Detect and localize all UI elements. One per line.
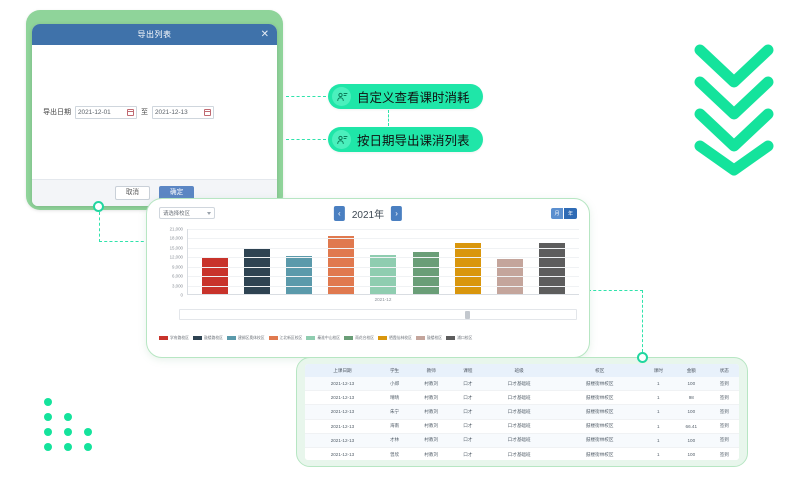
legend-item[interactable]: 雨花台校区 [344,336,374,341]
chart-toolbar: 请选择校区 ‹ 2021年 › 月 年 [159,207,577,223]
table-cell: 1 [644,447,673,460]
table-cell: 鼓楼街林校区 [556,391,644,405]
date-from-input[interactable]: 2021-12-01 [75,106,137,119]
table-cell: 朱宁 [380,405,409,419]
table-cell: 1 [644,391,673,405]
table-cell: 口才基础班 [483,419,556,433]
legend-swatch [378,336,387,340]
legend-label: 建邺区奥体校区 [238,336,265,341]
callout-connector-line [286,139,326,140]
table-column-header[interactable]: 状态 [710,364,739,377]
legend-swatch [159,336,168,340]
table-cell: 签到 [710,377,739,391]
campus-select[interactable]: 请选择校区 [159,207,215,219]
calendar-icon [127,109,134,116]
table-cell: 签到 [710,391,739,405]
legend-item[interactable]: 鼓楼路校区 [193,336,223,341]
chart-table-connector [588,290,643,291]
table-cell: 100 [673,447,710,460]
table-cell: 口才基础班 [483,405,556,419]
legend-swatch [306,336,315,340]
y-axis-tick: 18,000 [170,236,183,241]
table-column-header[interactable]: 课时 [644,364,673,377]
cancel-button[interactable]: 取消 [115,186,150,201]
legend-label: 鼓楼路校区 [204,336,223,341]
table-cell: 晴晴 [380,391,409,405]
dialog-titlebar: 导出列表 ✕ [32,24,277,45]
user-settings-icon [332,130,351,149]
records-table-card: 上课日期学生教师课程班级校区课时金额状态 2021-12-13小郑村教刘口才口才… [296,357,748,467]
table-cell: 口才基础班 [483,391,556,405]
table-cell: 2021-12-13 [305,405,380,419]
y-axis-tick: 6,000 [172,274,183,279]
gridline [188,257,579,258]
gridline [188,248,579,249]
legend-item[interactable]: 浦口校区 [446,336,472,341]
table-cell: 口才 [453,433,482,447]
legend-item[interactable]: 江北新区校区 [269,336,303,341]
y-axis-tick: 12,000 [170,255,183,260]
legend-label: 秦淮中山校区 [317,336,340,341]
y-axis-tick: 0 [181,293,183,298]
bar[interactable] [370,255,396,294]
bar[interactable] [244,249,270,294]
table-cell: 鼓楼街林校区 [556,447,644,460]
legend-item[interactable]: 鼓楼校区 [416,336,442,341]
legend-swatch [269,336,278,340]
table-cell: 2021-12-13 [305,433,380,447]
chevron-down-icon-group [686,42,782,178]
table-cell: 2021-12-13 [305,391,380,405]
table-column-header[interactable]: 金额 [673,364,710,377]
table-cell: 口才基础班 [483,433,556,447]
y-axis-tick: 3,000 [172,283,183,288]
dialog-title: 导出列表 [138,29,172,40]
table-cell: 村教刘 [409,391,453,405]
table-cell: 村教刘 [409,433,453,447]
table-column-header[interactable]: 课程 [453,364,482,377]
table-cell: 鼓楼街林校区 [556,377,644,391]
table-cell: 小郑 [380,377,409,391]
table-cell: 鼓楼街林校区 [556,419,644,433]
callout-custom-view: 自定义查看课时消耗 [328,84,483,109]
table-row[interactable]: 2021-12-13曾欣村教刘口才口才基础班鼓楼街林校区1100签到 [305,447,739,460]
connector-dot [93,201,104,212]
callout-vertical-connector [388,110,389,126]
table-row[interactable]: 2021-12-13才林村教刘口才口才基础班鼓楼街林校区1100签到 [305,433,739,447]
table-cell: 村教刘 [409,419,453,433]
legend-label: 浦口校区 [457,336,472,341]
toggle-year-button[interactable]: 年 [564,208,577,219]
chart-card: 请选择校区 ‹ 2021年 › 月 年 21,00018,00015,00012… [146,198,590,358]
legend-swatch [344,336,353,340]
chart-scrollbar-handle[interactable] [465,311,470,319]
y-axis-tick: 15,000 [170,245,183,250]
date-range-separator: 至 [141,107,148,117]
table-cell: 签到 [710,405,739,419]
table-cell: 66.41 [673,419,710,433]
legend-label: 学府路校区 [170,336,189,341]
calendar-icon [204,109,211,116]
chart-scrollbar[interactable] [179,309,577,320]
table-cell: 签到 [710,433,739,447]
legend-swatch [193,336,202,340]
legend-item[interactable]: 学府路校区 [159,336,189,341]
table-cell: 1 [644,377,673,391]
next-year-button[interactable]: › [391,206,402,221]
plot-area [187,229,579,295]
date-to-value: 2021-12-13 [155,109,204,116]
legend-item[interactable]: 秦淮中山校区 [306,336,340,341]
view-toggle-group: 月 年 [551,208,577,219]
callout-export-by-date: 按日期导出课消列表 [328,127,483,152]
table-body: 2021-12-13小郑村教刘口才口才基础班鼓楼街林校区1100签到2021-1… [305,377,739,460]
export-dialog-frame: 导出列表 ✕ 导出日期 2021-12-01 至 2021-12-13 取消 确… [26,10,283,210]
chart-legend: 学府路校区鼓楼路校区建邺区奥体校区江北新区校区秦淮中山校区雨花台校区栖霞仙林校区… [159,333,581,343]
table-cell: 100 [673,433,710,447]
table-cell: 口才 [453,391,482,405]
table-cell: 1 [644,419,673,433]
callout-label: 按日期导出课消列表 [357,130,470,149]
table-column-header[interactable]: 学生 [380,364,409,377]
table-column-header[interactable]: 班级 [483,364,556,377]
table-cell: 2021-12-13 [305,377,380,391]
table-row[interactable]: 2021-12-13海南村教刘口才口才基础班鼓楼街林校区166.41签到 [305,419,739,433]
prev-year-button[interactable]: ‹ [334,206,345,221]
legend-item[interactable]: 建邺区奥体校区 [227,336,265,341]
legend-swatch [416,336,425,340]
gridline [188,229,579,230]
legend-label: 栖霞仙林校区 [389,336,412,341]
table-cell: 口才 [453,405,482,419]
close-icon[interactable]: ✕ [261,30,269,40]
date-from-value: 2021-12-01 [78,109,127,116]
table-column-header[interactable]: 校区 [556,364,644,377]
table-cell: 1 [644,405,673,419]
table-row[interactable]: 2021-12-13朱宁村教刘口才口才基础班鼓楼街林校区1100签到 [305,405,739,419]
gridline [188,276,579,277]
chart-table-connector [642,290,643,352]
table-cell: 2021-12-13 [305,419,380,433]
table-cell: 鼓楼街林校区 [556,405,644,419]
gridline [188,267,579,268]
connector-dot [637,352,648,363]
legend-label: 雨花台校区 [355,336,374,341]
callout-label: 自定义查看课时消耗 [357,87,470,106]
date-to-input[interactable]: 2021-12-13 [152,106,214,119]
table-cell: 口才基础班 [483,447,556,460]
table-cell: 口才基础班 [483,377,556,391]
chevron-down-icon [207,212,211,215]
legend-label: 江北新区校区 [280,336,303,341]
year-navigator: ‹ 2021年 › [334,206,402,221]
export-date-label: 导出日期 [43,107,71,117]
dialog-chart-connector [99,241,149,242]
year-label: 2021年 [352,206,384,221]
table-cell: 98 [673,391,710,405]
table-cell: 签到 [710,419,739,433]
legend-item[interactable]: 栖霞仙林校区 [378,336,412,341]
dialog-body: 导出日期 2021-12-01 至 2021-12-13 [32,45,277,179]
table-header-row: 上课日期学生教师课程班级校区课时金额状态 [305,364,739,377]
x-axis-label: 2021-12 [187,297,579,302]
records-table: 上课日期学生教师课程班级校区课时金额状态 2021-12-13小郑村教刘口才口才… [305,364,739,460]
table-cell: 曾欣 [380,447,409,460]
table-row[interactable]: 2021-12-13晴晴村教刘口才口才基础班鼓楼街林校区198签到 [305,391,739,405]
legend-swatch [446,336,455,340]
table-cell: 口才 [453,447,482,460]
user-settings-icon [332,87,351,106]
gridline [188,238,579,239]
records-table-wrapper: 上课日期学生教师课程班级校区课时金额状态 2021-12-13小郑村教刘口才口才… [305,364,739,460]
table-cell: 100 [673,377,710,391]
bar-chart: 21,00018,00015,00012,0009,0006,0003,0000… [159,229,579,307]
y-axis-tick: 9,000 [172,264,183,269]
table-cell: 2021-12-13 [305,447,380,460]
table-cell: 1 [644,433,673,447]
table-column-header[interactable]: 教师 [409,364,453,377]
table-cell: 海南 [380,419,409,433]
gridline [188,286,579,287]
dialog-chart-connector [99,212,100,242]
campus-select-value: 请选择校区 [163,209,207,217]
callout-connector-line [286,96,326,97]
table-cell: 鼓楼街林校区 [556,433,644,447]
table-cell: 村教刘 [409,447,453,460]
table-column-header[interactable]: 上课日期 [305,364,380,377]
y-axis: 21,00018,00015,00012,0009,0006,0003,0000 [159,229,185,295]
legend-label: 鼓楼校区 [427,336,442,341]
export-dialog: 导出列表 ✕ 导出日期 2021-12-01 至 2021-12-13 取消 确… [32,24,277,206]
table-row[interactable]: 2021-12-13小郑村教刘口才口才基础班鼓楼街林校区1100签到 [305,377,739,391]
table-cell: 村教刘 [409,377,453,391]
table-cell: 口才 [453,419,482,433]
toggle-month-button[interactable]: 月 [551,208,564,219]
table-cell: 100 [673,405,710,419]
table-header: 上课日期学生教师课程班级校区课时金额状态 [305,364,739,377]
table-cell: 口才 [453,377,482,391]
table-cell: 签到 [710,447,739,460]
table-cell: 才林 [380,433,409,447]
y-axis-tick: 21,000 [170,227,183,232]
legend-swatch [227,336,236,340]
table-cell: 村教刘 [409,405,453,419]
